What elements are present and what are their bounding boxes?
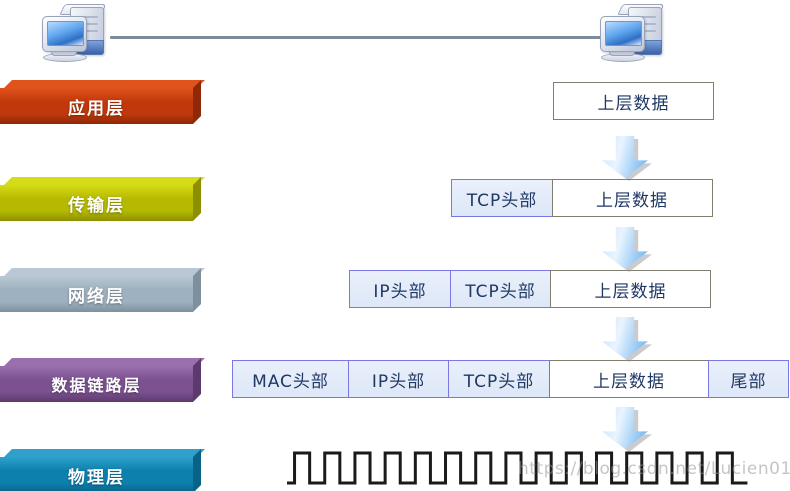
layer-label: 物理层: [68, 463, 125, 488]
layer-bar-front-face: 物理层: [0, 457, 193, 491]
diagram-canvas: 应用层传输层网络层数据链路层物理层 上层数据TCP头部上层数据IP头部TCP头部…: [0, 0, 790, 491]
pdu-row-network: IP头部TCP头部上层数据: [349, 270, 711, 308]
monitor-body: [600, 16, 645, 52]
layer-bar-application[interactable]: 应用层: [0, 80, 193, 116]
pdu-cell-ip-header[interactable]: IP头部: [348, 360, 450, 398]
monitor-screen: [605, 21, 642, 46]
layer-label: 数据链路层: [51, 372, 141, 396]
layer-bar-top-face: [4, 80, 205, 88]
pdu-cell-tcp-header[interactable]: TCP头部: [450, 270, 552, 308]
layer-bar-front-face: 应用层: [0, 88, 193, 124]
monitor-screen: [47, 21, 84, 46]
layer-bar-side-face: [193, 268, 201, 312]
pdu-cell-tcp-header[interactable]: TCP头部: [448, 360, 550, 398]
pdu-cell-tcp-header[interactable]: TCP头部: [451, 179, 553, 217]
layer-bar-transport[interactable]: 传输层: [0, 177, 193, 213]
pdu-cell-ip-header[interactable]: IP头部: [349, 270, 451, 308]
layer-bar-front-face: 传输层: [0, 185, 193, 221]
arrow-transport-to-network-icon: [602, 227, 648, 269]
layer-label: 传输层: [68, 191, 125, 216]
layer-bar-top-face: [4, 449, 205, 457]
layer-bar-side-face: [193, 358, 201, 402]
arrow-datalink-to-physical-icon: [602, 407, 648, 449]
pdu-row-transport: TCP头部上层数据: [451, 179, 713, 217]
pdu-cell-app-data[interactable]: 上层数据: [550, 270, 711, 308]
pdu-cell-app-data[interactable]: 上层数据: [549, 360, 710, 398]
layer-bar-front-face: 网络层: [0, 276, 193, 312]
arrow-app-to-transport-icon: [602, 136, 648, 178]
network-link-line: [110, 36, 602, 39]
pdu-cell-trailer[interactable]: 尾部: [708, 360, 789, 398]
layer-bar-front-face: 数据链路层: [0, 366, 193, 402]
pdu-row-application: 上层数据: [553, 82, 714, 120]
layer-bar-side-face: [193, 449, 201, 491]
pdu-cell-mac-header[interactable]: MAC头部: [232, 360, 349, 398]
layer-bar-top-face: [4, 177, 205, 185]
pdu-cell-app-data[interactable]: 上层数据: [553, 82, 714, 120]
layer-bar-top-face: [4, 358, 205, 366]
layer-bar-side-face: [193, 177, 201, 221]
arrow-network-to-datalink-icon: [602, 317, 648, 359]
layer-label: 网络层: [68, 282, 125, 307]
right-computer-icon: [598, 4, 674, 64]
layer-label: 应用层: [68, 94, 125, 119]
layer-bar-side-face: [193, 80, 201, 124]
left-computer-icon: [40, 4, 116, 64]
layer-bar-physical[interactable]: 物理层: [0, 449, 193, 485]
watermark-text: https://blog.csdn.net/Lucien010230: [518, 459, 790, 479]
layer-bar-top-face: [4, 268, 205, 276]
pdu-cell-app-data[interactable]: 上层数据: [552, 179, 713, 217]
layer-bar-network[interactable]: 网络层: [0, 268, 193, 304]
pdu-row-datalink: MAC头部IP头部TCP头部上层数据尾部: [232, 360, 789, 398]
monitor-body: [42, 16, 87, 52]
layer-bar-datalink[interactable]: 数据链路层: [0, 358, 193, 394]
